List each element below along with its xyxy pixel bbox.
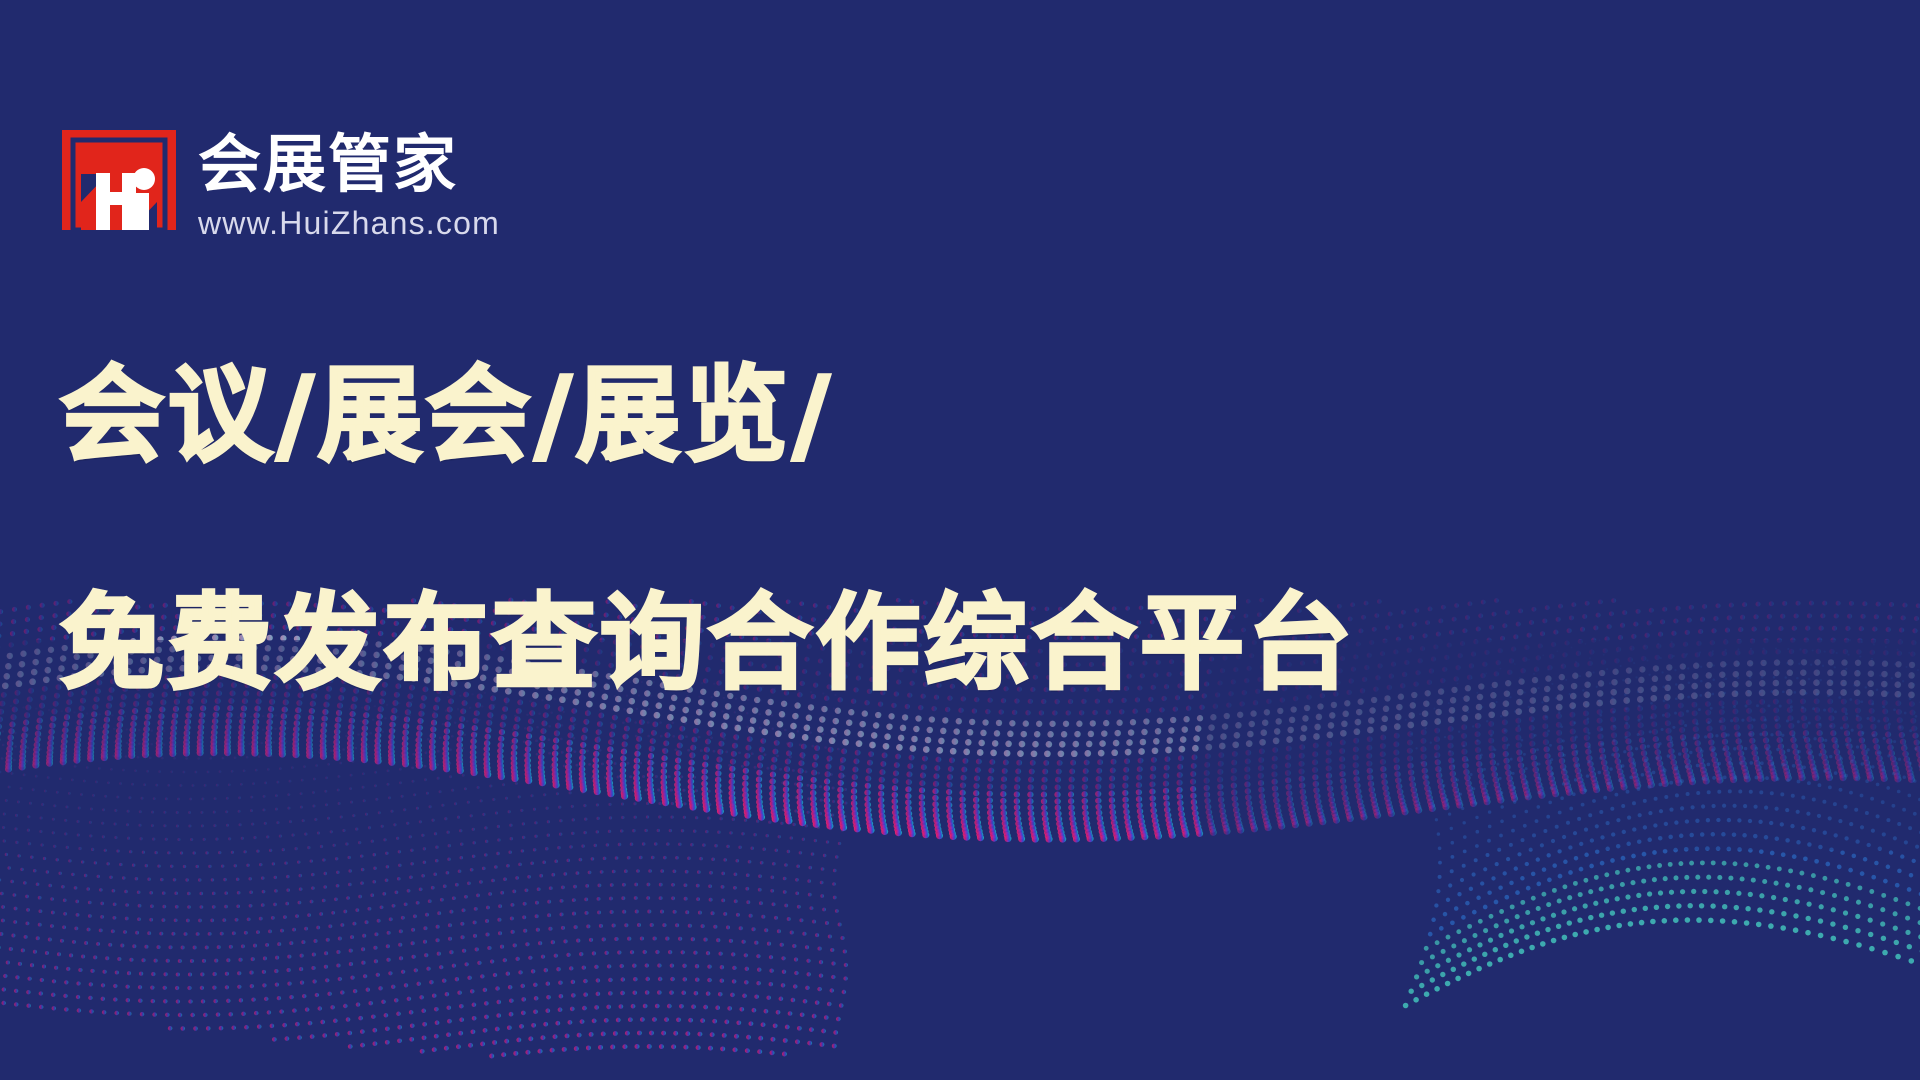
- brand-name: 会展管家: [198, 130, 500, 200]
- huizhans-logo-mark-icon: [62, 130, 176, 230]
- brand-logo[interactable]: 会展管家 www.HuiZhans.com: [62, 130, 500, 242]
- banner-canvas: 会展管家 www.HuiZhans.com 会议/展会/展览/ 免费发布查询合作…: [0, 0, 1920, 1080]
- brand-text-block: 会展管家 www.HuiZhans.com: [198, 130, 500, 242]
- headline-block: 会议/展会/展览/ 免费发布查询合作综合平台: [60, 355, 1356, 703]
- headline-line-1: 会议/展会/展览/: [60, 355, 1356, 475]
- brand-url[interactable]: www.HuiZhans.com: [198, 204, 500, 242]
- headline-line-2: 免费发布查询合作综合平台: [60, 583, 1356, 703]
